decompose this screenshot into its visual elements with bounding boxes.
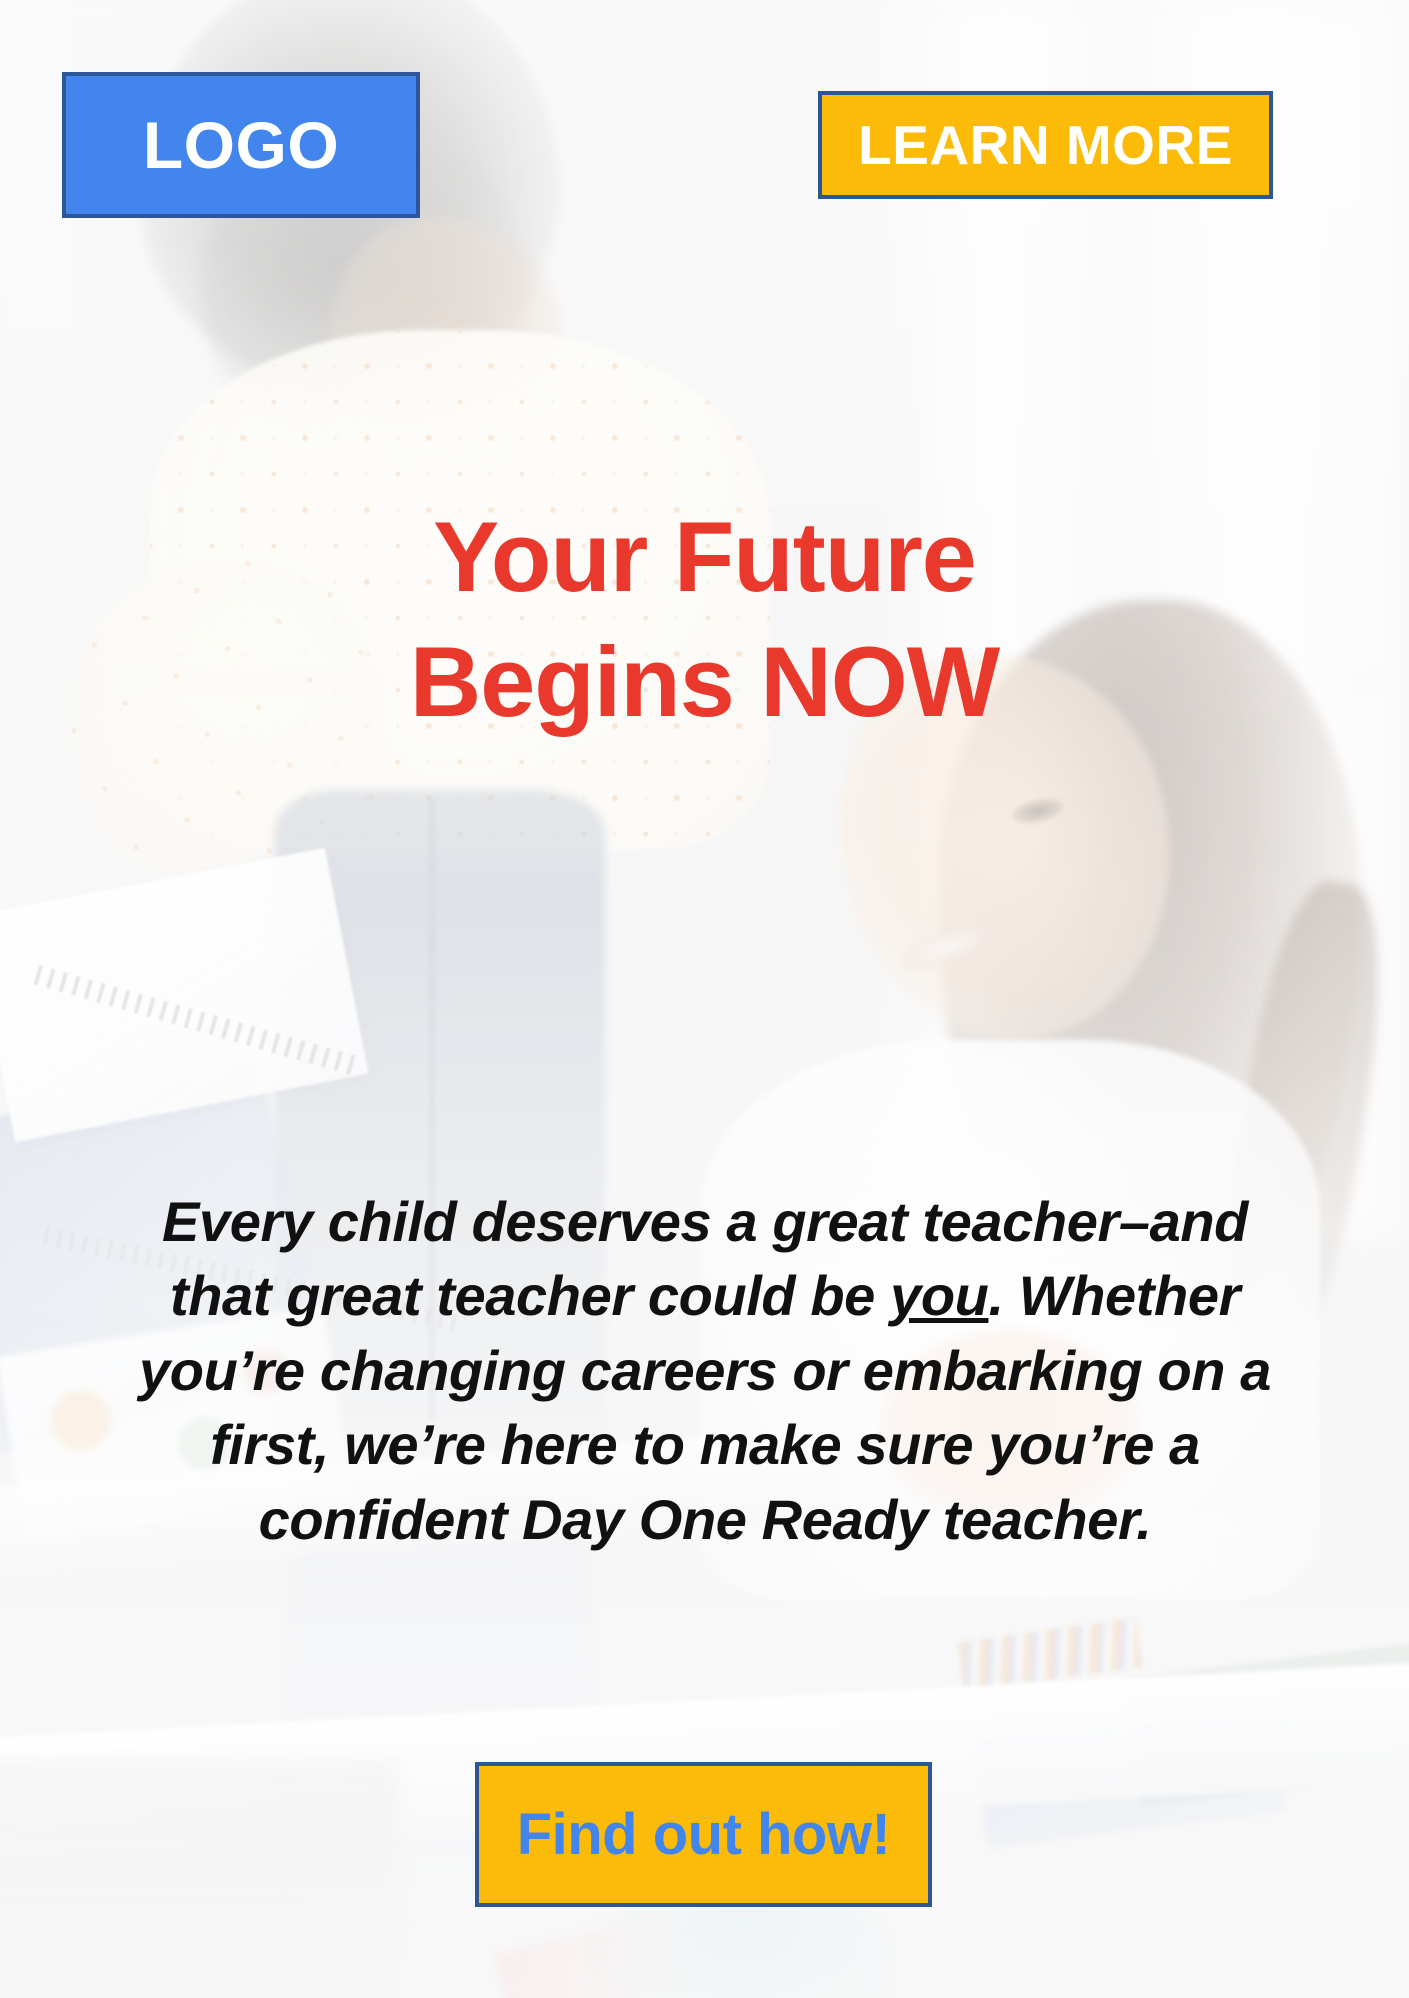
- page-title: Your Future Begins NOW: [0, 495, 1409, 744]
- logo-button[interactable]: LOGO: [62, 72, 420, 218]
- poster-canvas: LOGO LEARN MORE Your Future Begins NOW E…: [0, 0, 1409, 1998]
- body-paragraph: Every child deserves a great teacher–and…: [120, 1185, 1290, 1557]
- emphasis-you: you: [890, 1264, 988, 1327]
- poster-content: LOGO LEARN MORE Your Future Begins NOW E…: [0, 0, 1409, 1998]
- learn-more-button[interactable]: LEARN MORE: [818, 91, 1273, 199]
- find-out-how-button[interactable]: Find out how!: [475, 1762, 932, 1907]
